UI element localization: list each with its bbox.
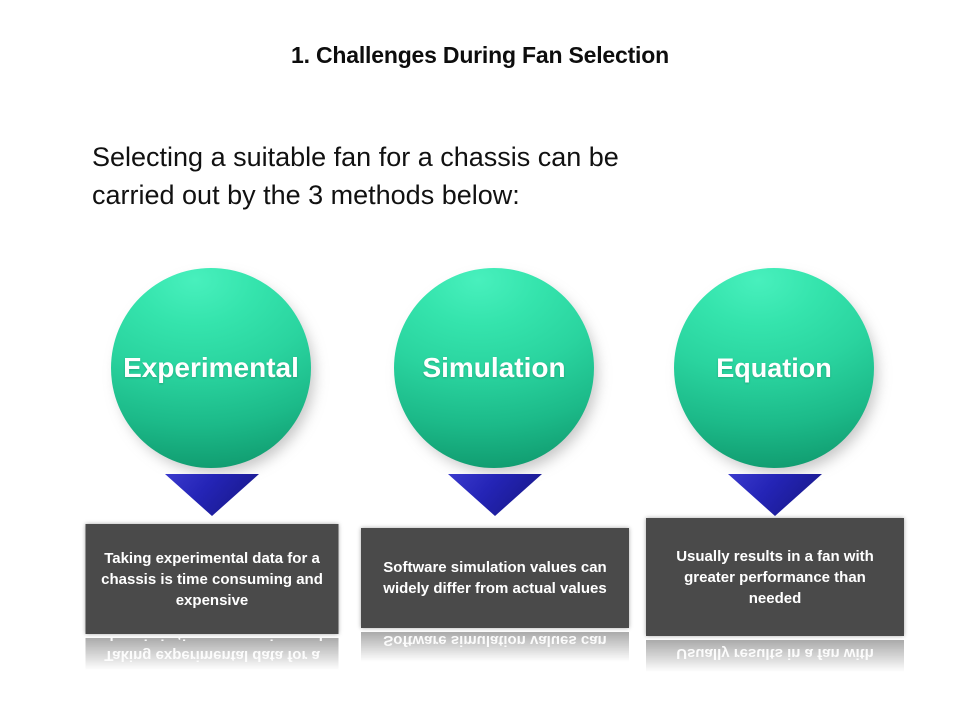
method-caption-text: Taking experimental data for a chassis i… <box>96 548 329 611</box>
caption-reflection-text: Usually results in a fan with greater pe… <box>656 640 894 665</box>
methods-group: Experimental Taking experimental data fo… <box>0 262 960 682</box>
circle-label: Experimental <box>123 352 299 384</box>
caption-reflection: Software simulation values can widely di… <box>361 632 629 680</box>
body-paragraph-line-2: carried out by the 3 methods below: <box>92 176 792 214</box>
method-caption-box: Usually results in a fan with greater pe… <box>646 518 904 636</box>
circle-shape: Experimental <box>111 268 311 468</box>
method-caption-box: Software simulation values can widely di… <box>361 528 629 628</box>
circle-shape: Simulation <box>394 268 594 468</box>
method-circle-equation[interactable]: Equation <box>674 268 876 470</box>
circle-label: Simulation <box>422 352 565 384</box>
down-arrow-icon <box>728 474 822 516</box>
down-arrow-icon <box>448 474 542 516</box>
method-item-simulation: Simulation Software simulation values ca… <box>352 262 638 682</box>
page-title: 1. Challenges During Fan Selection <box>0 42 960 69</box>
method-caption-text: Software simulation values can widely di… <box>371 557 619 599</box>
method-caption-box: Taking experimental data for a chassis i… <box>86 524 339 634</box>
presentation-slide: 1. Challenges During Fan Selection Selec… <box>0 0 960 720</box>
method-circle-simulation[interactable]: Simulation <box>394 268 596 470</box>
caption-reflection: Taking experimental data for a chassis i… <box>86 638 339 690</box>
body-paragraph-line-1: Selecting a suitable fan for a chassis c… <box>92 138 792 176</box>
caption-reflection-text: Software simulation values can widely di… <box>371 632 619 651</box>
caption-reflection-text: Taking experimental data for a chassis i… <box>96 638 329 667</box>
caption-reflection: Usually results in a fan with greater pe… <box>646 640 904 692</box>
body-paragraph: Selecting a suitable fan for a chassis c… <box>92 138 792 214</box>
down-arrow-icon <box>165 474 259 516</box>
method-circle-experimental[interactable]: Experimental <box>111 268 313 470</box>
circle-label: Equation <box>716 353 832 384</box>
method-item-equation: Equation Usually results in a fan with g… <box>632 262 918 682</box>
circle-shape: Equation <box>674 268 874 468</box>
method-item-experimental: Experimental Taking experimental data fo… <box>69 262 355 682</box>
method-caption-text: Usually results in a fan with greater pe… <box>656 546 894 609</box>
